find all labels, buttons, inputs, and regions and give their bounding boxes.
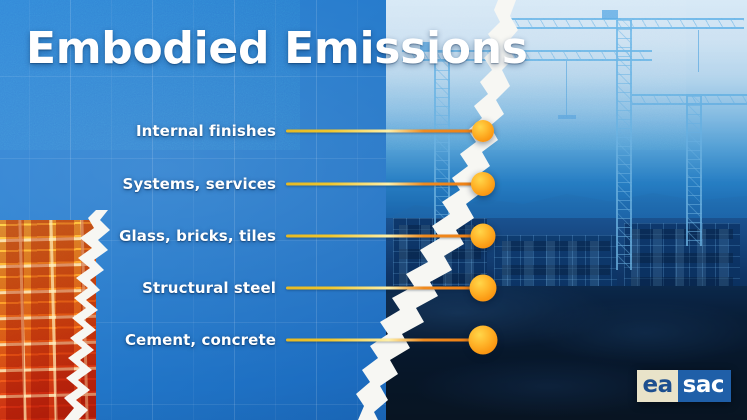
callout-label: Cement, concrete bbox=[125, 331, 276, 349]
callout-label: Systems, services bbox=[123, 175, 276, 193]
callout-dot[interactable] bbox=[469, 326, 498, 355]
easac-logo[interactable]: ea sac bbox=[637, 370, 731, 402]
leader-line bbox=[286, 183, 483, 186]
callout-label: Internal finishes bbox=[136, 122, 276, 140]
logo-part-sac: sac bbox=[678, 370, 731, 402]
callout-dot[interactable] bbox=[472, 120, 494, 142]
leader-line bbox=[286, 235, 483, 238]
leader-line bbox=[286, 339, 483, 342]
callout-dot[interactable] bbox=[471, 172, 495, 196]
callout-label: Glass, bricks, tiles bbox=[119, 227, 276, 245]
poster: Embodied Emissions Internal finishes Sys… bbox=[0, 0, 747, 420]
callout-dot[interactable] bbox=[470, 275, 497, 302]
callout-dot[interactable] bbox=[471, 224, 496, 249]
callout-label: Structural steel bbox=[142, 279, 276, 297]
logo-part-ea: ea bbox=[637, 370, 678, 402]
callout-list: Internal finishes Systems, services Glas… bbox=[0, 0, 747, 420]
leader-line bbox=[286, 287, 483, 290]
leader-line bbox=[286, 130, 483, 133]
